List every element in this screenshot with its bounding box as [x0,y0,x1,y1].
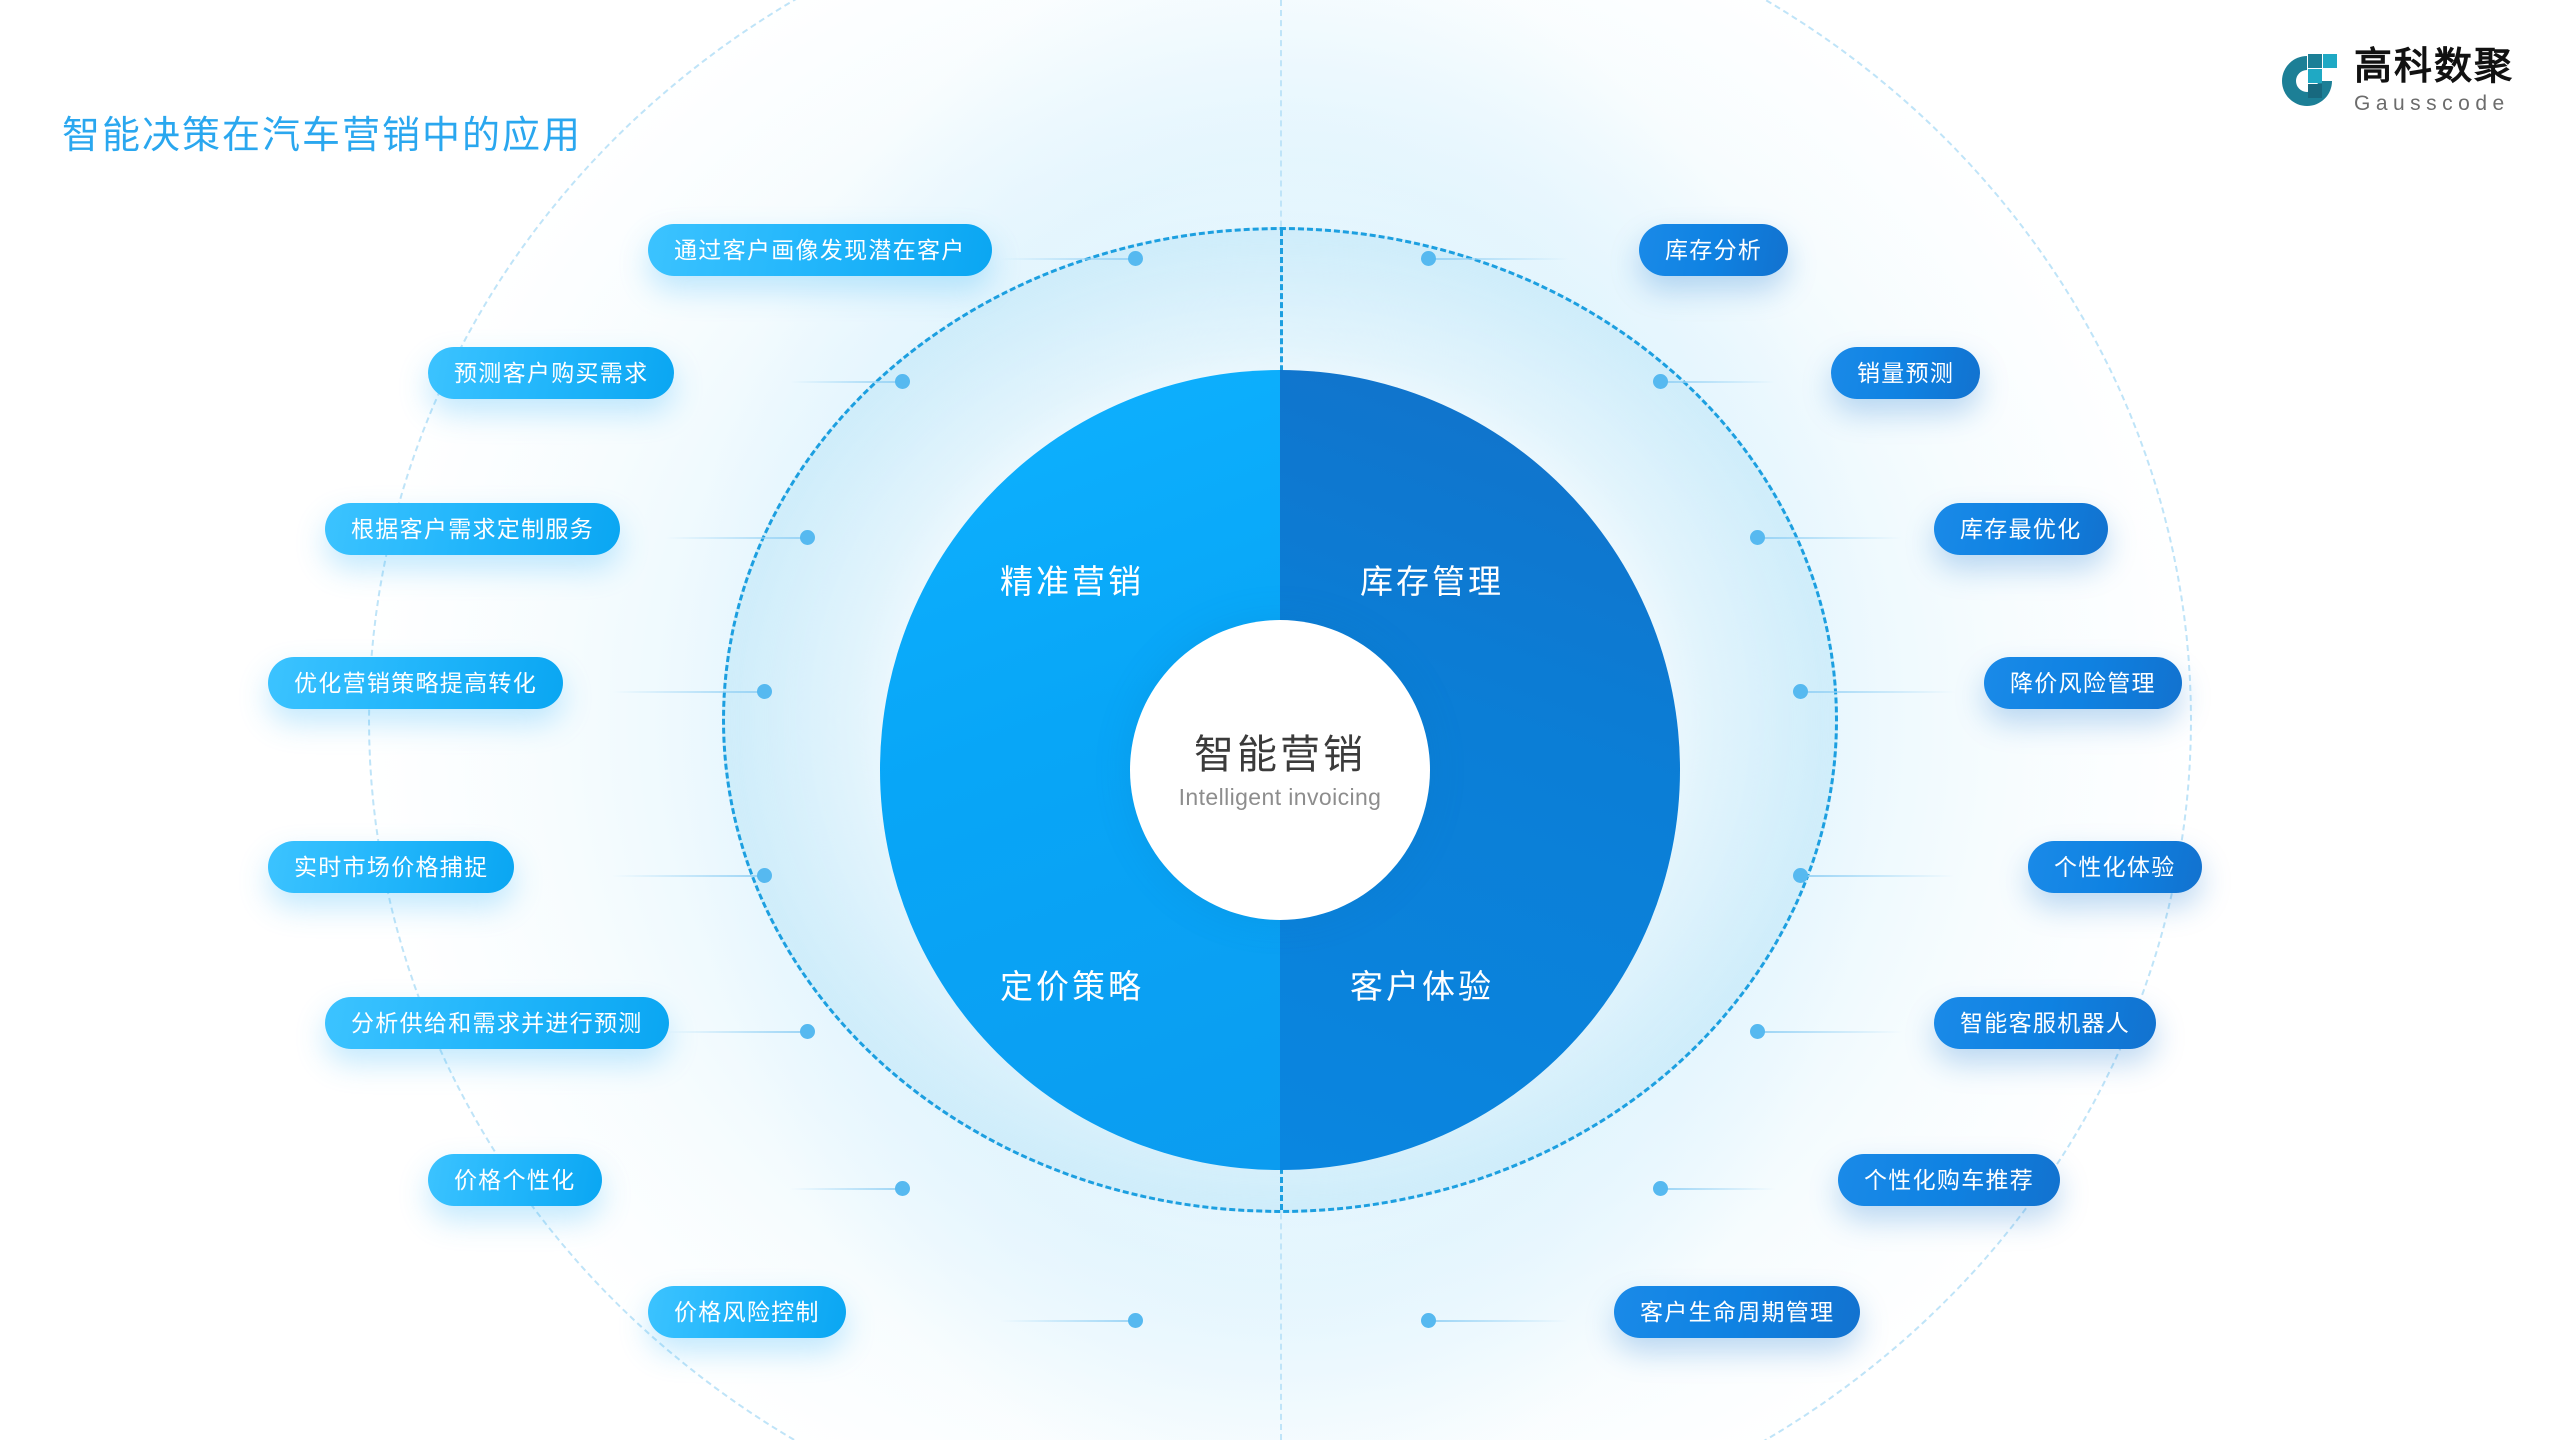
left-item-3[interactable]: 根据客户需求定制服务 [325,503,620,555]
left-item-1[interactable]: 通过客户画像发现潜在客户 [648,224,992,276]
right-item-5[interactable]: 个性化体验 [2028,841,2202,893]
connector-node-left-6 [800,1024,815,1039]
connector-node-right-5 [1793,868,1808,883]
connector-node-right-8 [1421,1313,1436,1328]
connector-right-1 [1428,258,1568,260]
center-title-cn: 智能营销 [1194,730,1366,780]
quadrant-label-inventory-management: 库存管理 [1360,555,1504,603]
right-item-8[interactable]: 客户生命周期管理 [1614,1286,1860,1338]
quadrant-label-pricing-strategy: 定价策略 [1000,960,1144,1008]
infographic-canvas: 智能决策在汽车营销中的应用 高科数聚 Gausscode [0,0,2560,1440]
left-item-6[interactable]: 分析供给和需求并进行预测 [325,997,669,1049]
connector-right-8 [1428,1320,1568,1322]
connector-right-4 [1800,691,1955,693]
connector-left-4 [612,691,767,693]
right-item-4[interactable]: 降价风险管理 [1984,657,2182,709]
left-item-4[interactable]: 优化营销策略提高转化 [268,657,563,709]
quadrant-label-customer-experience: 客户体验 [1350,960,1494,1008]
right-item-1[interactable]: 库存分析 [1639,224,1788,276]
left-item-8[interactable]: 价格风险控制 [648,1286,846,1338]
connector-node-left-1 [1128,251,1143,266]
center-title-en: Intelligent invoicing [1179,784,1382,811]
connector-right-5 [1800,875,1955,877]
right-item-7[interactable]: 个性化购车推荐 [1838,1154,2060,1206]
logo-wordmark: 高科数聚 Gausscode [2354,48,2514,114]
connector-node-right-7 [1653,1181,1668,1196]
core-donut: 精准营销 库存管理 定价策略 客户体验 智能营销 Intelligent inv… [880,370,1680,1170]
connector-left-6 [665,1031,810,1033]
brand-logo: 高科数聚 Gausscode [2276,48,2514,114]
connector-left-7 [790,1188,905,1190]
logo-name-cn: 高科数聚 [2354,48,2514,86]
right-item-6[interactable]: 智能客服机器人 [1934,997,2156,1049]
connector-node-left-8 [1128,1313,1143,1328]
right-item-3[interactable]: 库存最优化 [1934,503,2108,555]
left-item-7[interactable]: 价格个性化 [428,1154,602,1206]
left-item-5[interactable]: 实时市场价格捕捉 [268,841,514,893]
connector-right-3 [1757,537,1902,539]
logo-name-en: Gausscode [2354,93,2514,114]
connector-left-8 [1000,1320,1140,1322]
quadrant-label-precision-marketing: 精准营销 [1000,555,1144,603]
connector-left-3 [665,537,810,539]
connector-right-6 [1757,1031,1902,1033]
page-title: 智能决策在汽车营销中的应用 [62,104,582,159]
connector-node-right-1 [1421,251,1436,266]
left-item-2[interactable]: 预测客户购买需求 [428,347,674,399]
connector-node-right-4 [1793,684,1808,699]
right-item-2[interactable]: 销量预测 [1831,347,1980,399]
connector-node-right-3 [1750,530,1765,545]
connector-right-7 [1660,1188,1775,1190]
connector-left-1 [1000,258,1140,260]
connector-node-left-5 [757,868,772,883]
connector-node-left-3 [800,530,815,545]
connector-node-right-6 [1750,1024,1765,1039]
gausscode-logo-icon [2276,50,2338,112]
connector-node-left-7 [895,1181,910,1196]
donut-center-hub: 智能营销 Intelligent invoicing [1130,620,1430,920]
connector-node-left-4 [757,684,772,699]
connector-left-5 [612,875,767,877]
